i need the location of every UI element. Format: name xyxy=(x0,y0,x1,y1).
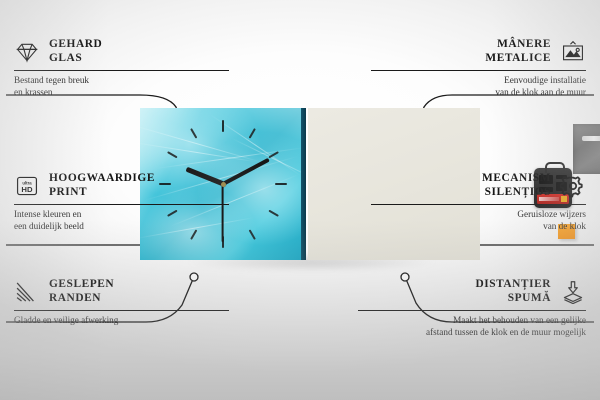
svg-text:HD: HD xyxy=(21,185,33,194)
feature-description: Geruisloze wijzersvan de klok xyxy=(371,209,586,232)
feature-title: MECANISMSILENȚIOS xyxy=(482,172,551,199)
feature-manere-metalice: MÂNEREMETALICE Eenvoudige installatievan… xyxy=(371,38,586,98)
feature-mecanism-silentios: MECANISMSILENȚIOS Geruisloze wijzersvan … xyxy=(371,172,586,232)
feature-title: HOOGWAARDIGEPRINT xyxy=(49,172,155,199)
divider xyxy=(371,70,586,71)
feature-description: Gladde en veilige afwerking xyxy=(14,315,229,326)
divider xyxy=(358,310,586,311)
clock-tick xyxy=(223,183,287,185)
feature-distantier-spuma: DISTANȚIERSPUMĂ Maakt het behouden van e… xyxy=(358,278,586,338)
infographic-canvas: GEHARDGLAS Bestand tegen breuken krassen… xyxy=(0,0,600,400)
divider xyxy=(14,310,229,311)
spacer-stack-arrow-icon xyxy=(560,280,586,304)
feature-title: MÂNEREMETALICE xyxy=(485,38,551,65)
diamond-icon xyxy=(14,40,40,64)
divider xyxy=(371,204,586,205)
feature-description: Bestand tegen breuken krassen xyxy=(14,75,229,98)
feature-description: Intense kleuren eneen duidelijk beeld xyxy=(14,209,229,232)
divider xyxy=(14,70,229,71)
metal-hanger-plate xyxy=(573,124,600,174)
bevelled-edges-icon xyxy=(14,280,40,304)
feature-title: DISTANȚIERSPUMĂ xyxy=(475,278,551,305)
feature-description: Eenvoudige installatievan de klok aan de… xyxy=(371,75,586,98)
feature-description: Maakt het behouden van een gelijkeafstan… xyxy=(358,315,586,338)
feature-gehard-glas: GEHARDGLAS Bestand tegen breuken krassen xyxy=(14,38,229,98)
clock-glass-edge xyxy=(301,108,306,260)
feature-title: GESLEPENRANDEN xyxy=(49,278,114,305)
feature-hoogwaardige-print: ultra HD HOOGWAARDIGEPRINT Intense kleur… xyxy=(14,172,229,232)
ultra-hd-icon: ultra HD xyxy=(14,174,40,198)
feature-title: GEHARDGLAS xyxy=(49,38,102,65)
framed-picture-hook-icon xyxy=(560,40,586,64)
divider xyxy=(14,204,229,205)
feature-geslepen-randen: GESLEPENRANDEN Gladde en veilige afwerki… xyxy=(14,278,229,327)
gear-icon xyxy=(560,174,586,198)
